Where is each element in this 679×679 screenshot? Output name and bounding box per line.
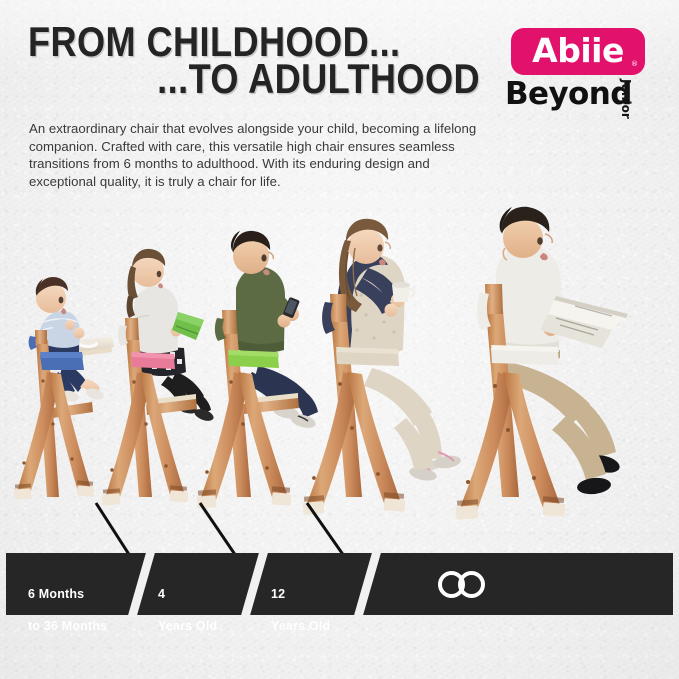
banner-segment-3-line-1: 12 (271, 586, 285, 601)
banner-segment-2-line-1: 4 (158, 586, 165, 601)
chair-stage-baby (14, 277, 114, 500)
infographic-page: FROM CHILDHOOD... ...TO ADULTHOOD An ext… (0, 0, 679, 679)
banner-segment-1-line-2: to 36 Months (28, 618, 107, 633)
brand-badge: Abiie ® (511, 28, 645, 75)
headline-line-2: ...TO ADULTHOOD (91, 61, 480, 98)
banner-segment-1: 6 Months to 36 Months (28, 570, 107, 634)
banner-segment-2: 4 Years Old (158, 570, 217, 634)
body-copy: An extraordinary chair that evolves alon… (29, 120, 489, 190)
banner-segment-2-line-2: Years Old (158, 618, 217, 633)
infinity-icon (438, 571, 500, 598)
headline-block: FROM CHILDHOOD... ...TO ADULTHOOD (28, 24, 480, 98)
chair-stage-man (456, 207, 628, 520)
chair-frame-baby (14, 330, 95, 500)
brand-subline: Beyond Junior (497, 77, 665, 119)
chair-stage-boy (197, 231, 318, 509)
brand-name: Abiie (532, 34, 624, 67)
product-qualifier: Junior (619, 79, 633, 119)
banner-segment-3: 12 Years Old (271, 570, 330, 634)
registered-mark-icon: ® (631, 60, 638, 68)
brand-logo: Abiie ® Beyond Junior (497, 28, 665, 119)
age-stage-banner: 6 Months to 36 Months 4 Years Old 12 Yea… (6, 553, 673, 615)
chair-stage-woman (303, 219, 462, 515)
chair-stage-girl (102, 249, 215, 506)
banner-segment-3-line-2: Years Old (271, 618, 330, 633)
infinity-ring-right (458, 571, 485, 598)
banner-segment-1-line-1: 6 Months (28, 586, 84, 601)
product-line-name: Beyond (505, 79, 632, 110)
